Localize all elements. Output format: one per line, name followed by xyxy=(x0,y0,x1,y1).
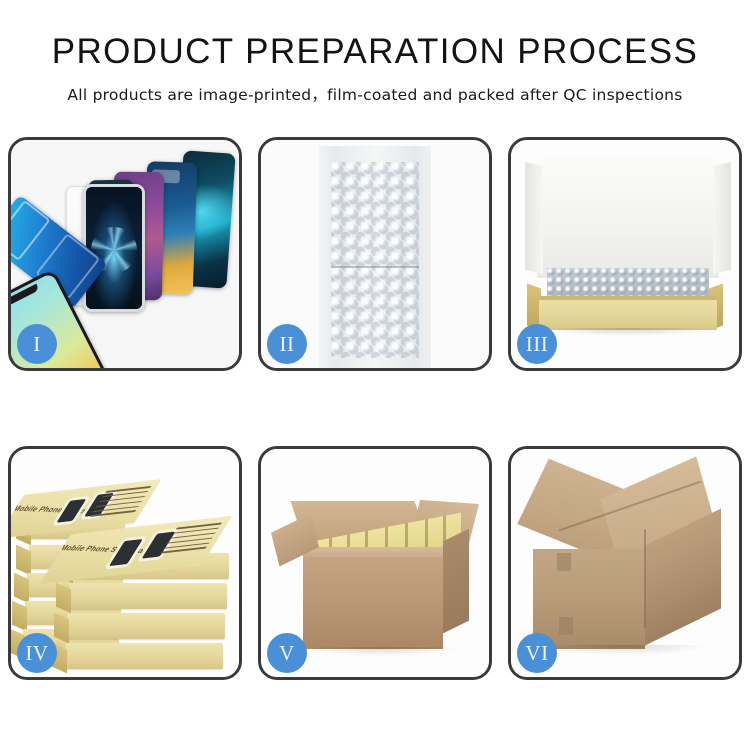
step-badge-2: II xyxy=(267,324,307,364)
step-panel-6[interactable]: VI xyxy=(508,446,742,680)
step-6-image: VI xyxy=(511,449,739,677)
step-5-image: V xyxy=(261,449,489,677)
bubble-wrap-sheet xyxy=(319,146,431,368)
step-4-image: Mobile Phone Spare Parts Mobile Phone Sp… xyxy=(11,449,239,677)
step-3-image: III xyxy=(511,140,739,368)
step-badge-1: I xyxy=(17,324,57,364)
step-panel-2[interactable]: II xyxy=(258,137,492,371)
sealed-carton-edge-seam xyxy=(644,529,646,628)
box-lid-open xyxy=(537,158,719,278)
step-panel-3[interactable]: III xyxy=(508,137,742,371)
retail-box-front-3 xyxy=(67,613,225,639)
carton-front-wall xyxy=(303,557,443,649)
wrap-seam xyxy=(331,266,419,268)
sealed-carton-tape-bottom xyxy=(559,617,573,635)
step-1-image: I xyxy=(11,140,239,368)
page-subtitle: All products are image-printed，film-coat… xyxy=(0,83,750,105)
carton-right-wall xyxy=(443,529,469,634)
box-brand-label-front: Mobile Phone Spare Parts xyxy=(58,543,157,555)
header: PRODUCT PREPARATION PROCESS All products… xyxy=(0,0,750,105)
step-badge-4: IV xyxy=(17,633,57,673)
box-front-wall xyxy=(539,296,717,330)
step-2-image: II xyxy=(261,140,489,368)
box-shadow xyxy=(541,328,715,336)
carton-shadow xyxy=(307,647,457,656)
sealed-carton-tape-front xyxy=(557,553,571,571)
product-preparation-infographic: PRODUCT PREPARATION PROCESS All products… xyxy=(0,0,750,750)
steps-grid: I II xyxy=(8,137,742,680)
step-badge-5: V xyxy=(267,633,307,673)
phone-screen-1 xyxy=(83,184,145,312)
step-badge-6: VI xyxy=(517,633,557,673)
bubble-pattern-layer-2 xyxy=(331,162,419,358)
sealed-carton-shadow xyxy=(541,645,705,655)
step-panel-5[interactable]: V xyxy=(258,446,492,680)
retail-box-front-2 xyxy=(69,583,227,609)
step-badge-3: III xyxy=(517,324,557,364)
page-title: PRODUCT PREPARATION PROCESS xyxy=(0,34,750,69)
retail-box-front-4 xyxy=(65,643,223,669)
step-panel-4[interactable]: Mobile Phone Spare Parts Mobile Phone Sp… xyxy=(8,446,242,680)
step-panel-1[interactable]: I xyxy=(8,137,242,371)
sealed-carton-front xyxy=(533,549,645,649)
